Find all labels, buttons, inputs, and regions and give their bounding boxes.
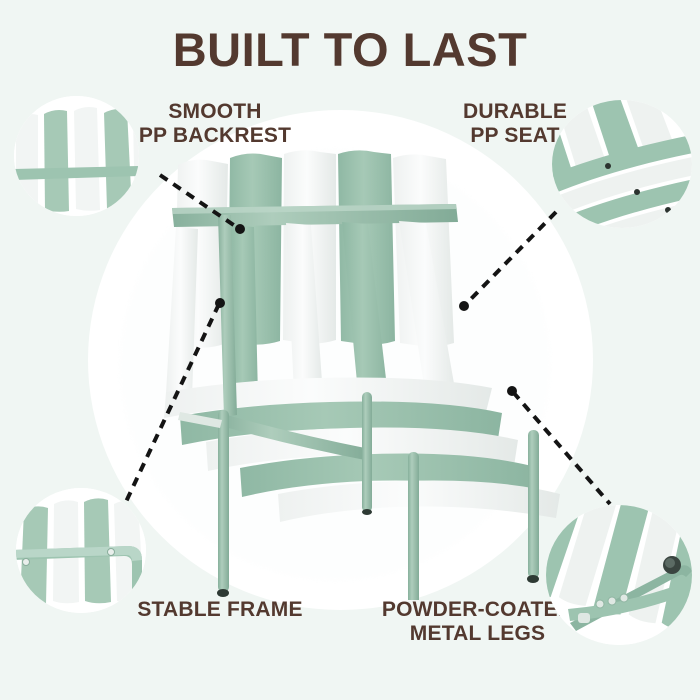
- detail-bubble-stable-frame: [16, 488, 146, 613]
- infographic-canvas: BUILT TO LAST: [0, 0, 700, 700]
- detail-bubble-metal-legs: [546, 505, 692, 645]
- callout-label-stable-frame: STABLE FRAME: [120, 598, 320, 622]
- product-image-chair: [150, 130, 570, 600]
- callout-label-smooth-pp-backrest: SMOOTH PP BACKREST: [120, 100, 310, 147]
- page-title: BUILT TO LAST: [0, 22, 700, 77]
- detail-bubble-backrest-slats: [14, 96, 139, 216]
- detail-bubble-seat-slats: [552, 100, 692, 228]
